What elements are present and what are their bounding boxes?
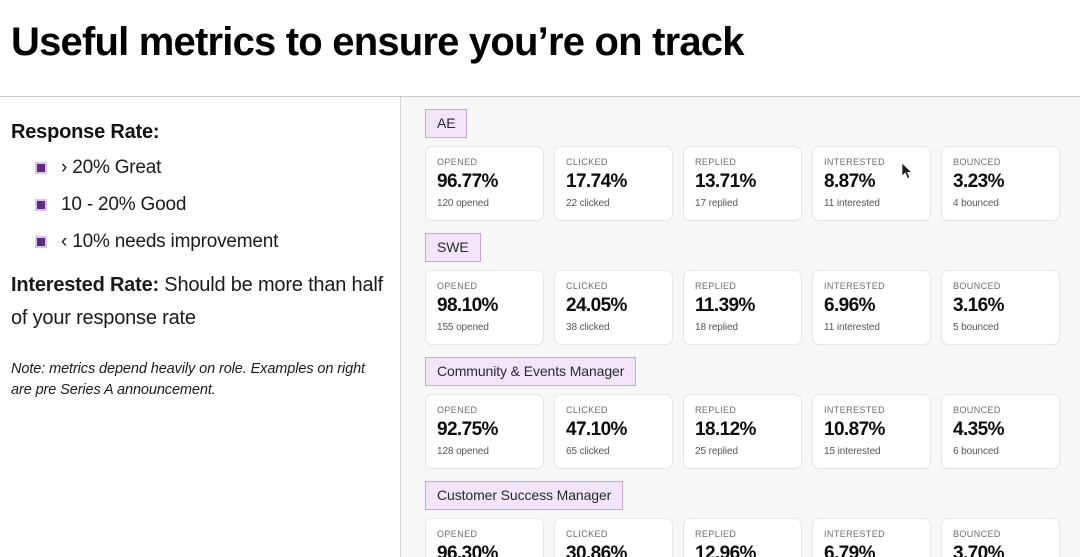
stat-card-clicked[interactable]: CLICKED24.05%38 clicked (554, 270, 673, 345)
stat-label: CLICKED (566, 157, 661, 167)
stat-card-opened[interactable]: OPENED96.77%120 opened (425, 146, 544, 221)
stat-card-opened[interactable]: OPENED92.75%128 opened (425, 394, 544, 469)
stat-card-interested[interactable]: INTERESTED10.87%15 interested (812, 394, 931, 469)
interested-rate-paragraph: Interested Rate: Should be more than hal… (11, 269, 386, 335)
stat-value: 96.30% (437, 544, 532, 557)
stat-sublabel: 11 interested (824, 322, 919, 333)
stat-label: REPLIED (695, 281, 790, 291)
slide-root: Useful metrics to ensure you’re on track… (0, 0, 1080, 557)
stat-label: BOUNCED (953, 405, 1048, 415)
role-badge[interactable]: Customer Success Manager (425, 481, 623, 510)
list-item-label: 10 - 20% Good (61, 195, 186, 214)
stat-label: CLICKED (566, 529, 661, 539)
stat-card-bounced[interactable]: BOUNCED3.70%6 bounced (941, 518, 1060, 557)
stat-card-row: OPENED96.77%120 openedCLICKED17.74%22 cl… (425, 146, 1060, 221)
title-bar: Useful metrics to ensure you’re on track (0, 0, 1080, 97)
stat-value: 3.23% (953, 172, 1048, 191)
stat-label: INTERESTED (824, 405, 919, 415)
stat-card-clicked[interactable]: CLICKED17.74%22 clicked (554, 146, 673, 221)
role-badge[interactable]: Community & Events Manager (425, 357, 636, 386)
stat-label: OPENED (437, 281, 532, 291)
stat-card-interested[interactable]: INTERESTED6.96%11 interested (812, 270, 931, 345)
list-item: ‹ 10% needs improvement (35, 232, 386, 251)
stat-label: REPLIED (695, 405, 790, 415)
stat-value: 47.10% (566, 420, 661, 439)
stat-card-clicked[interactable]: CLICKED47.10%65 clicked (554, 394, 673, 469)
stat-card-interested[interactable]: INTERESTED8.87%11 interested (812, 146, 931, 221)
metrics-group: Customer Success ManagerOPENED96.30%156 … (425, 481, 1060, 557)
page-title: Useful metrics to ensure you’re on track (11, 20, 744, 65)
stat-card-bounced[interactable]: BOUNCED3.23%4 bounced (941, 146, 1060, 221)
stat-sublabel: 18 replied (695, 322, 790, 333)
stat-sublabel: 155 opened (437, 322, 532, 333)
stat-value: 3.16% (953, 296, 1048, 315)
list-item: › 20% Great (35, 158, 386, 177)
stat-card-opened[interactable]: OPENED96.30%156 opened (425, 518, 544, 557)
stat-value: 6.79% (824, 544, 919, 557)
stat-sublabel: 22 clicked (566, 198, 661, 209)
stat-value: 6.96% (824, 296, 919, 315)
stat-value: 98.10% (437, 296, 532, 315)
bullet-square-icon (35, 199, 47, 211)
stat-value: 18.12% (695, 420, 790, 439)
stat-value: 13.71% (695, 172, 790, 191)
stat-card-replied[interactable]: REPLIED18.12%25 replied (683, 394, 802, 469)
stat-value: 10.87% (824, 420, 919, 439)
stat-sublabel: 4 bounced (953, 198, 1048, 209)
bullet-square-icon (35, 162, 47, 174)
mouse-pointer-icon (902, 163, 914, 181)
stat-card-bounced[interactable]: BOUNCED3.16%5 bounced (941, 270, 1060, 345)
metrics-group-list: AEOPENED96.77%120 openedCLICKED17.74%22 … (425, 109, 1060, 557)
role-badge[interactable]: SWE (425, 233, 481, 262)
stat-card-bounced[interactable]: BOUNCED4.35%6 bounced (941, 394, 1060, 469)
metrics-group: Community & Events ManagerOPENED92.75%12… (425, 357, 1060, 469)
stat-value: 3.70% (953, 544, 1048, 557)
interested-rate-label: Interested Rate: (11, 274, 159, 296)
role-badge[interactable]: AE (425, 109, 467, 138)
list-item: 10 - 20% Good (35, 195, 386, 214)
stat-label: BOUNCED (953, 157, 1048, 167)
response-rate-heading: Response Rate: (11, 121, 386, 144)
stat-value: 24.05% (566, 296, 661, 315)
stat-sublabel: 25 replied (695, 446, 790, 457)
stat-value: 92.75% (437, 420, 532, 439)
stat-sublabel: 15 interested (824, 446, 919, 457)
stat-label: REPLIED (695, 157, 790, 167)
bullet-square-icon (35, 236, 47, 248)
stat-value: 4.35% (953, 420, 1048, 439)
left-content-pane: Response Rate: › 20% Great 10 - 20% Good… (0, 97, 400, 557)
stat-card-interested[interactable]: INTERESTED6.79%11 interested (812, 518, 931, 557)
stat-sublabel: 6 bounced (953, 446, 1048, 457)
stat-sublabel: 128 opened (437, 446, 532, 457)
stat-card-opened[interactable]: OPENED98.10%155 opened (425, 270, 544, 345)
stat-card-clicked[interactable]: CLICKED30.86%50 clicked (554, 518, 673, 557)
footnote-text: Note: metrics depend heavily on role. Ex… (11, 359, 386, 401)
stat-label: REPLIED (695, 529, 790, 539)
stat-sublabel: 5 bounced (953, 322, 1048, 333)
metrics-panel: AEOPENED96.77%120 openedCLICKED17.74%22 … (401, 97, 1080, 557)
stat-label: OPENED (437, 157, 532, 167)
stat-value: 11.39% (695, 296, 790, 315)
stat-card-row: OPENED96.30%156 openedCLICKED30.86%50 cl… (425, 518, 1060, 557)
list-item-label: ‹ 10% needs improvement (61, 232, 278, 251)
stat-value: 17.74% (566, 172, 661, 191)
stat-sublabel: 11 interested (824, 198, 919, 209)
stat-value: 30.86% (566, 544, 661, 557)
stat-card-row: OPENED92.75%128 openedCLICKED47.10%65 cl… (425, 394, 1060, 469)
stat-sublabel: 17 replied (695, 198, 790, 209)
stat-label: CLICKED (566, 281, 661, 291)
response-rate-bullet-list: › 20% Great 10 - 20% Good ‹ 10% needs im… (35, 158, 386, 251)
stat-label: OPENED (437, 529, 532, 539)
stat-value: 96.77% (437, 172, 532, 191)
stat-sublabel: 38 clicked (566, 322, 661, 333)
stat-card-row: OPENED98.10%155 openedCLICKED24.05%38 cl… (425, 270, 1060, 345)
stat-label: BOUNCED (953, 529, 1048, 539)
metrics-group: AEOPENED96.77%120 openedCLICKED17.74%22 … (425, 109, 1060, 221)
stat-label: INTERESTED (824, 281, 919, 291)
stat-label: BOUNCED (953, 281, 1048, 291)
stat-value: 12.96% (695, 544, 790, 557)
stat-label: OPENED (437, 405, 532, 415)
metrics-group: SWEOPENED98.10%155 openedCLICKED24.05%38… (425, 233, 1060, 345)
stat-sublabel: 65 clicked (566, 446, 661, 457)
stat-label: CLICKED (566, 405, 661, 415)
stat-label: INTERESTED (824, 529, 919, 539)
stat-card-replied[interactable]: REPLIED13.71%17 replied (683, 146, 802, 221)
stat-card-replied[interactable]: REPLIED11.39%18 replied (683, 270, 802, 345)
stat-sublabel: 120 opened (437, 198, 532, 209)
list-item-label: › 20% Great (61, 158, 161, 177)
stat-card-replied[interactable]: REPLIED12.96%21 replied (683, 518, 802, 557)
